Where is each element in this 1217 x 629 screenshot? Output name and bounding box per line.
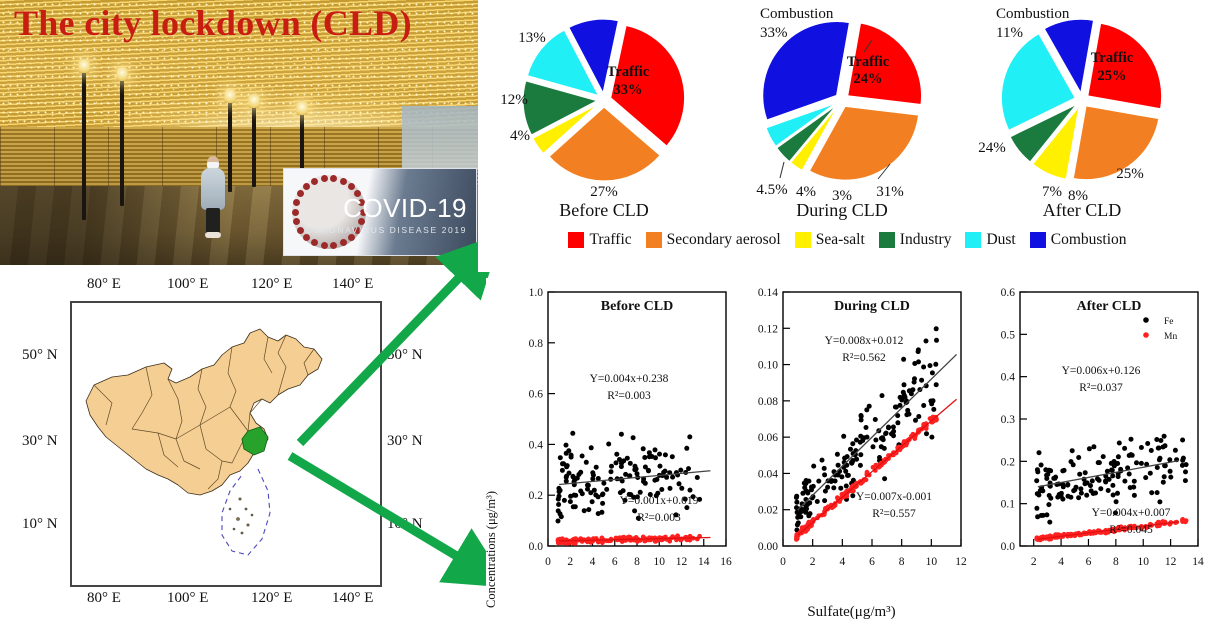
y-tick-label: 1.0 — [529, 287, 544, 299]
data-point-fe — [1116, 454, 1121, 459]
virus-spike — [303, 234, 310, 241]
data-point-fe — [816, 479, 821, 484]
fit-equation-mn: Y=0.004x+0.007 — [1092, 507, 1171, 519]
map-xtick-bottom: 80° E — [87, 590, 121, 607]
data-point-fe — [921, 365, 926, 370]
map-xtick-top: 120° E — [251, 276, 292, 293]
data-point-fe — [835, 452, 840, 457]
legend-swatch — [879, 232, 895, 248]
data-point-fe — [619, 464, 624, 469]
data-point-mn — [1180, 517, 1185, 522]
virus-spike — [303, 183, 310, 190]
pie-during-cld: Traffic24%Combustion33%31%3%4%4.5% — [738, 4, 946, 204]
map-ytick-right: 50° N — [387, 347, 423, 364]
data-point-fe — [1180, 458, 1185, 463]
data-point-fe — [606, 442, 611, 447]
data-point-fe — [1091, 444, 1096, 449]
data-point-fe — [1162, 434, 1167, 439]
data-point-fe — [1046, 502, 1051, 507]
data-point-fe — [664, 475, 669, 480]
data-point-fe — [635, 471, 640, 476]
map-xtick-bottom: 120° E — [251, 590, 292, 607]
legend-swatch — [965, 232, 981, 248]
series-legend-marker — [1143, 317, 1149, 323]
data-point-fe — [562, 498, 567, 503]
data-point-fe — [1034, 506, 1039, 511]
data-point-fe — [1132, 493, 1137, 498]
data-point-fe — [609, 464, 614, 469]
pie-label: 33% — [760, 25, 788, 41]
data-point-fe — [921, 403, 926, 408]
data-point-fe — [679, 486, 684, 491]
data-point-fe — [899, 398, 904, 403]
pie-label: 4% — [510, 128, 530, 144]
street-lamp-icon — [82, 70, 86, 220]
data-point-fe — [658, 464, 663, 469]
data-point-fe — [1052, 476, 1057, 481]
data-point-mn — [650, 536, 655, 541]
fit-r2-fe: R²=0.562 — [842, 352, 886, 364]
y-tick-label: 0.00 — [758, 541, 778, 553]
fit-r2-fe: R²=0.003 — [607, 390, 651, 402]
scatter-during-cld: 0246810120.000.020.040.060.080.100.120.1… — [739, 278, 971, 629]
data-point-fe — [678, 468, 683, 473]
data-point-fe — [567, 471, 572, 476]
data-point-fe — [864, 407, 869, 412]
data-point-fe — [879, 436, 884, 441]
data-point-fe — [924, 431, 929, 436]
data-point-fe — [668, 486, 673, 491]
data-point-fe — [864, 425, 869, 430]
data-point-fe — [850, 493, 855, 498]
virus-spike — [293, 218, 300, 225]
data-point-fe — [929, 435, 934, 440]
data-point-fe — [601, 481, 606, 486]
data-point-fe — [670, 475, 675, 480]
data-point-fe — [871, 444, 876, 449]
x-tick-label: 4 — [1058, 556, 1064, 568]
data-point-fe — [1158, 456, 1163, 461]
data-point-fe — [590, 499, 595, 504]
panel-title: During CLD — [834, 299, 910, 314]
data-point-fe — [1066, 494, 1071, 499]
data-point-fe — [1072, 487, 1077, 492]
data-point-fe — [815, 499, 820, 504]
data-point-fe — [846, 473, 851, 478]
data-point-fe — [1111, 493, 1116, 498]
map-ytick-left: 10° N — [22, 516, 58, 533]
y-tick-label: 0.1 — [1001, 499, 1016, 511]
data-point-fe — [631, 435, 636, 440]
y-tick-label: 0.5 — [1001, 329, 1016, 341]
pie-label: 25% — [1098, 68, 1127, 84]
data-point-fe — [901, 357, 906, 362]
data-point-fe — [1145, 441, 1150, 446]
series-legend-label: Fe — [1164, 317, 1174, 327]
legend-label: Traffic — [589, 231, 631, 249]
legend-item: Dust — [965, 231, 1015, 249]
x-tick-label: 0 — [780, 556, 786, 568]
data-point-fe — [1034, 478, 1039, 483]
virus-spike — [321, 242, 328, 249]
data-point-fe — [820, 458, 825, 463]
virus-spike — [321, 175, 328, 182]
x-tick-label: 12 — [1165, 556, 1177, 568]
x-tick-label: 4 — [839, 556, 845, 568]
data-point-fe — [659, 487, 664, 492]
data-point-fe — [806, 479, 811, 484]
data-point-fe — [913, 418, 918, 423]
y-tick-label: 0.4 — [1001, 372, 1016, 384]
data-point-fe — [591, 473, 596, 478]
data-point-fe — [1158, 438, 1163, 443]
data-point-fe — [836, 463, 841, 468]
data-point-fe — [1110, 483, 1115, 488]
data-point-fe — [1156, 446, 1161, 451]
legend-item: Traffic — [568, 231, 631, 249]
data-point-fe — [564, 443, 569, 448]
data-point-fe — [934, 326, 939, 331]
photo-distance — [402, 106, 478, 170]
data-point-fe — [1035, 467, 1040, 472]
pie-after-cld: Traffic25%Combustion11%25%8%7%24% — [978, 4, 1186, 204]
data-point-fe — [882, 476, 887, 481]
data-point-fe — [580, 491, 585, 496]
photo-title: The city lockdown (CLD) — [14, 2, 412, 44]
data-point-fe — [794, 495, 799, 500]
data-point-fe — [564, 475, 569, 480]
data-point-fe — [1139, 461, 1144, 466]
pie-label: Combustion — [760, 6, 834, 22]
fit-equation-mn: Y=0.001x+0.019 — [620, 495, 699, 507]
leader-line — [780, 162, 784, 178]
fit-r2-mn: R²=0.003 — [637, 512, 681, 524]
y-tick-label: 0.2 — [529, 490, 544, 502]
data-point-fe — [558, 455, 563, 460]
data-point-fe — [1090, 478, 1095, 483]
data-point-fe — [934, 338, 939, 343]
data-point-fe — [600, 492, 605, 497]
data-point-fe — [614, 452, 619, 457]
china-map: 80° E 100° E 120° E 140° E 80° E 100° E … — [2, 268, 474, 626]
data-point-fe — [1117, 441, 1122, 446]
pie-label: 4% — [796, 184, 816, 200]
data-point-fe — [556, 519, 561, 524]
scatter-after-cld: 24681012140.00.10.20.30.40.50.6After CLD… — [976, 278, 1208, 629]
data-point-fe — [822, 498, 827, 503]
street-lamp-icon — [300, 112, 304, 176]
pie-label: 11% — [996, 25, 1023, 41]
data-point-fe — [916, 414, 921, 419]
data-point-fe — [641, 446, 646, 451]
data-point-fe — [1183, 469, 1188, 474]
data-point-fe — [823, 489, 828, 494]
virus-spike — [292, 209, 299, 216]
data-point-fe — [794, 500, 799, 505]
pie-before-cld: Traffic33%27%4%12%13% — [500, 4, 708, 204]
graphical-abstract: The city lockdown (CLD) COVID-19 CORONAV… — [0, 0, 1217, 629]
x-tick-label: 10 — [654, 556, 666, 568]
data-point-fe — [848, 447, 853, 452]
data-point-fe — [619, 432, 624, 437]
pie-label: 24% — [854, 71, 883, 87]
data-point-fe — [1132, 479, 1137, 484]
data-point-fe — [1134, 460, 1139, 465]
legend-label: Industry — [900, 231, 952, 249]
data-point-fe — [576, 472, 581, 477]
data-point-fe — [1116, 474, 1121, 479]
data-point-fe — [895, 420, 900, 425]
data-point-fe — [844, 484, 849, 489]
data-point-fe — [931, 398, 936, 403]
data-point-fe — [663, 452, 668, 457]
data-point-fe — [916, 359, 921, 364]
pedestrian-legs — [206, 208, 220, 234]
pie-label: Traffic — [1091, 50, 1134, 66]
data-point-fe — [1037, 450, 1042, 455]
legend-item: Combustion — [1030, 231, 1127, 249]
map-xtick-top: 80° E — [87, 276, 121, 293]
data-point-fe — [822, 472, 827, 477]
data-point-fe — [573, 504, 578, 509]
virus-spike — [311, 178, 318, 185]
data-point-fe — [1096, 460, 1101, 465]
data-point-fe — [1057, 492, 1062, 497]
data-point-fe — [1069, 459, 1074, 464]
data-point-fe — [1098, 486, 1103, 491]
x-tick-label: 14 — [698, 556, 710, 568]
data-point-fe — [807, 500, 812, 505]
y-tick-label: 0.8 — [529, 338, 544, 350]
virus-spike — [330, 242, 337, 249]
data-point-fe — [1168, 475, 1173, 480]
x-tick-label: 2 — [1031, 556, 1037, 568]
x-tick-label: 6 — [1086, 556, 1092, 568]
panel-title: Before CLD — [601, 299, 673, 314]
data-point-fe — [1180, 438, 1185, 443]
data-point-fe — [805, 489, 810, 494]
data-point-fe — [584, 460, 589, 465]
virus-spike — [330, 175, 337, 182]
y-tick-label: 0.6 — [529, 389, 544, 401]
data-point-fe — [560, 461, 565, 466]
data-point-fe — [649, 454, 654, 459]
data-point-fe — [901, 390, 906, 395]
pie-title-during: During CLD — [738, 200, 946, 221]
legend-swatch — [568, 232, 584, 248]
data-point-fe — [1143, 475, 1148, 480]
fit-equation-fe: Y=0.006x+0.126 — [1062, 365, 1141, 377]
map-ytick-right: 30° N — [387, 433, 423, 450]
data-point-fe — [1114, 499, 1119, 504]
data-point-fe — [1180, 463, 1185, 468]
data-point-fe — [886, 425, 891, 430]
pie-label: 27% — [590, 184, 618, 200]
data-point-fe — [585, 487, 590, 492]
data-point-fe — [931, 407, 936, 412]
data-point-fe — [919, 378, 924, 383]
legend-item: Sea-salt — [795, 231, 865, 249]
data-point-fe — [831, 485, 836, 490]
data-point-fe — [841, 434, 846, 439]
data-point-fe — [891, 425, 896, 430]
data-point-fe — [916, 347, 921, 352]
data-point-fe — [1161, 445, 1166, 450]
data-point-fe — [933, 362, 938, 367]
scatter-xlabel: Sulfate(μg/m³) — [486, 604, 1217, 621]
map-ytick-right: 10° N — [387, 516, 423, 533]
data-point-fe — [596, 494, 601, 499]
data-point-fe — [617, 457, 622, 462]
street-lamp-icon — [252, 105, 256, 187]
pie-label: 24% — [978, 140, 1006, 156]
data-point-fe — [556, 502, 561, 507]
covid-banner-text: COVID-19 CORONAVIRUS DISEASE 2019 — [305, 193, 467, 235]
covid-subtitle: CORONAVIRUS DISEASE 2019 — [305, 225, 467, 235]
data-point-fe — [1083, 470, 1088, 475]
data-point-fe — [589, 445, 594, 450]
data-point-fe — [558, 511, 563, 516]
x-tick-label: 12 — [676, 556, 688, 568]
virus-spike — [311, 239, 318, 246]
series-legend-marker — [1143, 332, 1149, 338]
data-point-fe — [566, 448, 571, 453]
data-point-fe — [796, 520, 801, 525]
pie-label: 13% — [518, 30, 546, 46]
data-point-fe — [568, 494, 573, 499]
data-point-fe — [858, 452, 863, 457]
y-tick-label: 0.0 — [1001, 541, 1016, 553]
map-xtick-top: 100° E — [167, 276, 208, 293]
data-point-fe — [1122, 446, 1127, 451]
data-point-fe — [1122, 479, 1127, 484]
data-point-fe — [873, 438, 878, 443]
fe-mn-sulfate-scatters: Concentrations (μg/m³) 02468101214160.00… — [486, 278, 1217, 629]
data-point-fe — [934, 382, 939, 387]
data-point-fe — [695, 475, 700, 480]
data-point-fe — [1110, 473, 1115, 478]
pie-label: 7% — [1042, 184, 1062, 200]
map-xtick-top: 140° E — [332, 276, 373, 293]
data-point-fe — [798, 514, 803, 519]
data-point-fe — [1047, 520, 1052, 525]
data-point-fe — [1079, 491, 1084, 496]
data-point-fe — [859, 418, 864, 423]
data-point-fe — [688, 488, 693, 493]
virus-spike — [348, 234, 355, 241]
data-point-fe — [599, 510, 604, 515]
data-point-fe — [628, 461, 633, 466]
data-point-fe — [1083, 481, 1088, 486]
data-point-mn — [657, 537, 662, 542]
data-point-fe — [1183, 478, 1188, 483]
data-point-fe — [684, 446, 689, 451]
scatter-before-cld: 02468101214160.00.20.40.60.81.0Before CL… — [504, 278, 736, 629]
data-point-fe — [1047, 493, 1052, 498]
data-point-fe — [850, 441, 855, 446]
data-point-fe — [653, 447, 658, 452]
data-point-fe — [1038, 488, 1043, 493]
data-point-fe — [609, 469, 614, 474]
data-point-fe — [1161, 480, 1166, 485]
data-point-fe — [1127, 472, 1132, 477]
data-point-fe — [1115, 491, 1120, 496]
data-point-fe — [839, 474, 844, 479]
pedestrian-shoes — [205, 232, 221, 238]
data-point-fe — [1070, 448, 1075, 453]
legend-swatch — [795, 232, 811, 248]
data-point-fe — [643, 465, 648, 470]
data-point-fe — [811, 484, 816, 489]
data-point-fe — [838, 486, 843, 491]
data-point-fe — [642, 455, 647, 460]
data-point-fe — [1076, 455, 1081, 460]
y-tick-label: 0.6 — [1001, 287, 1016, 299]
street-lamp-icon — [120, 78, 124, 206]
fit-equation-mn: Y=0.007x-0.001 — [856, 491, 932, 503]
map-xtick-bottom: 140° E — [332, 590, 373, 607]
data-point-fe — [912, 380, 917, 385]
y-tick-label: 0.0 — [529, 541, 544, 553]
x-tick-label: 12 — [955, 556, 967, 568]
data-point-fe — [570, 431, 575, 436]
data-point-mn — [679, 537, 684, 542]
data-point-fe — [1077, 472, 1082, 477]
data-point-fe — [1131, 485, 1136, 490]
data-point-fe — [571, 474, 576, 479]
data-point-fe — [880, 393, 885, 398]
data-point-fe — [1149, 448, 1154, 453]
data-point-fe — [560, 468, 565, 473]
y-tick-label: 0.12 — [758, 323, 778, 335]
data-point-fe — [1162, 474, 1167, 479]
pie-label: 12% — [500, 92, 528, 108]
legend-item: Industry — [879, 231, 952, 249]
data-point-fe — [1045, 472, 1050, 477]
data-point-fe — [800, 491, 805, 496]
data-point-fe — [657, 452, 662, 457]
y-tick-label: 0.08 — [758, 396, 778, 408]
data-point-fe — [905, 408, 910, 413]
y-tick-label: 0.4 — [529, 439, 544, 451]
data-point-fe — [882, 446, 887, 451]
virus-spike — [297, 190, 304, 197]
x-tick-label: 10 — [926, 556, 938, 568]
data-point-fe — [1065, 483, 1070, 488]
fit-r2-mn: R²=0.045 — [1109, 524, 1153, 536]
data-point-fe — [1112, 463, 1117, 468]
data-point-fe — [1173, 448, 1178, 453]
data-point-fe — [1060, 468, 1065, 473]
legend-label: Combustion — [1051, 231, 1127, 249]
data-point-fe — [1149, 490, 1154, 495]
covid-suffix: -19 — [428, 193, 467, 223]
data-point-fe — [1036, 493, 1041, 498]
data-point-fe — [822, 466, 827, 471]
y-tick-label: 0.06 — [758, 432, 778, 444]
china-outline — [72, 303, 380, 585]
legend-swatch — [646, 232, 662, 248]
x-tick-label: 6 — [612, 556, 618, 568]
data-point-fe — [1084, 493, 1089, 498]
fit-equation-fe: Y=0.008x+0.012 — [825, 335, 904, 347]
data-point-fe — [1095, 476, 1100, 481]
covid-brand: COVID — [343, 193, 428, 223]
map-ytick-left: 50° N — [22, 347, 58, 364]
data-point-fe — [687, 434, 692, 439]
data-point-fe — [1078, 486, 1083, 491]
data-point-fe — [1106, 488, 1111, 493]
